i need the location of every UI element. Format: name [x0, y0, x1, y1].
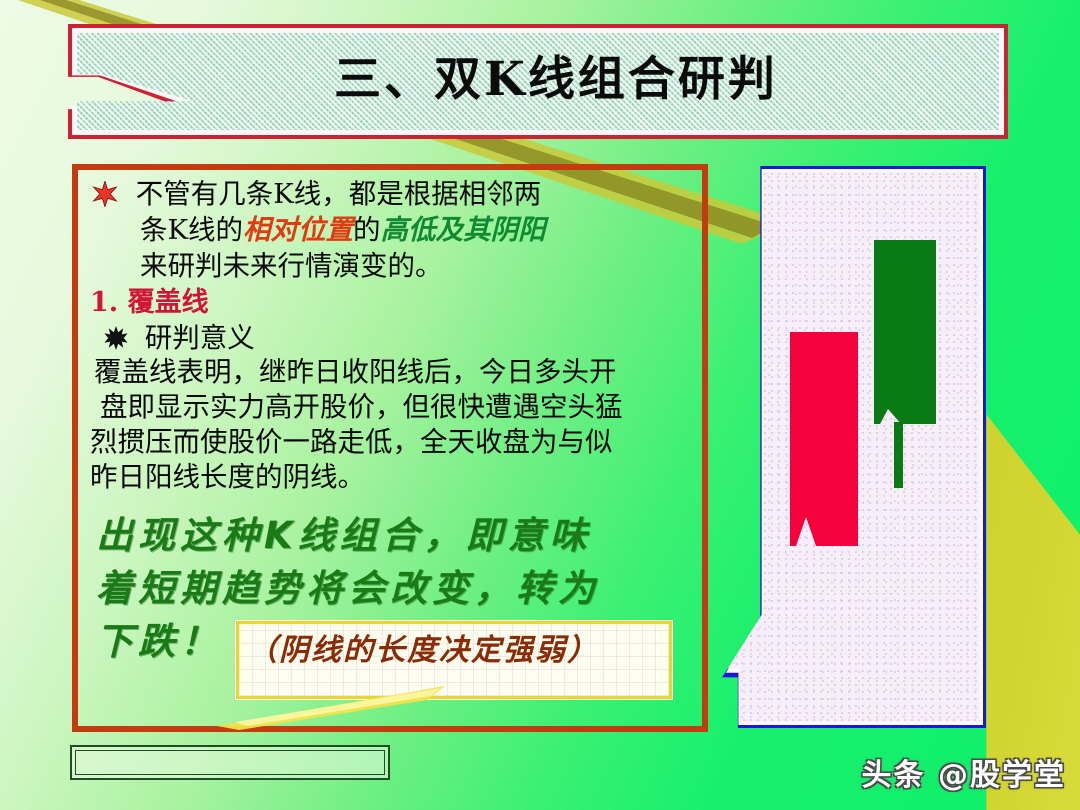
starburst-icon	[104, 324, 128, 348]
body-paragraph-line-3: 烈掼压而使股价一路走低，全天收盘为与似	[88, 425, 694, 460]
bullet-item-1-line-2: 条K线的相对位置的高低及其阴阳	[88, 212, 694, 248]
chart-panel: 1.覆盖线	[722, 166, 986, 728]
body-paragraph-line-2: 盘即显示实力高开股价，但很快遭遇空头猛	[88, 390, 694, 425]
bullet-item-1-line-1: 不管有几条K线，都是根据相邻两	[88, 176, 694, 212]
title-banner: 三、双K线组合研判	[68, 24, 1008, 139]
handwriting-row-3: 下跌！ （阴线的长度决定强弱）	[88, 615, 694, 699]
note-callout-box: （阴线的长度决定强弱）	[236, 621, 672, 699]
bullet-2-text: 研判意义	[145, 322, 255, 354]
handwriting-line-1: 出现这种K线组合，即意味	[88, 509, 694, 562]
candlestick-illustration	[728, 172, 980, 722]
handwriting-line-2: 着短期趋势将会改变，转为	[88, 562, 694, 615]
watermark: 头条 @股学堂	[862, 750, 1066, 794]
handwriting-line-3: 下跌！	[88, 615, 222, 668]
title-banner-face: 三、双K线组合研判	[77, 33, 999, 130]
bullet-item-2: 研判意义	[88, 321, 694, 355]
footer-empty-bar[interactable]	[70, 745, 390, 780]
slide-canvas: 三、双K线组合研判 不管有几条K线，都是根据相邻两 条K线的相对位置的高低及其阴…	[0, 0, 1080, 810]
bearish-candle-body	[790, 332, 858, 546]
bullet-1-text-line-3: 来研判未来行情演变的。	[140, 250, 443, 282]
chart-panel-face: 1.覆盖线	[728, 172, 980, 722]
six-point-star-icon	[92, 180, 118, 206]
bullet-1-text-line-2a: 条K线的	[140, 214, 243, 246]
bullet-item-1-line-3: 来研判未来行情演变的。	[88, 248, 694, 284]
bullet-1-text-line-2b: 的	[353, 214, 381, 246]
emphasis-relative-position: 相对位置	[243, 214, 353, 246]
chart-caption-text: 1.覆盖线	[835, 800, 953, 810]
content-panel: 不管有几条K线，都是根据相邻两 条K线的相对位置的高低及其阴阳 来研判未来行情演…	[72, 164, 708, 732]
chart-caption-box: 1.覆盖线	[796, 793, 992, 810]
emphasis-high-low-yin-yang: 高低及其阴阳	[381, 214, 546, 246]
page-title: 三、双K线组合研判	[334, 56, 778, 103]
note-callout-tail	[217, 686, 447, 730]
bullet-1-text-line-1: 不管有几条K线，都是根据相邻两	[136, 178, 542, 210]
note-callout-text: （阴线的长度决定强弱）	[239, 624, 669, 674]
body-paragraph-line-1: 覆盖线表明，继昨日收阳线后，今日多头开	[88, 355, 694, 390]
body-paragraph-line-4: 昨日阳线长度的阴线。	[88, 460, 694, 495]
bullish-candle-lower-wick	[894, 422, 903, 488]
bullish-candle-body	[874, 240, 936, 424]
section-heading-1: 1. 覆盖线	[88, 284, 694, 321]
